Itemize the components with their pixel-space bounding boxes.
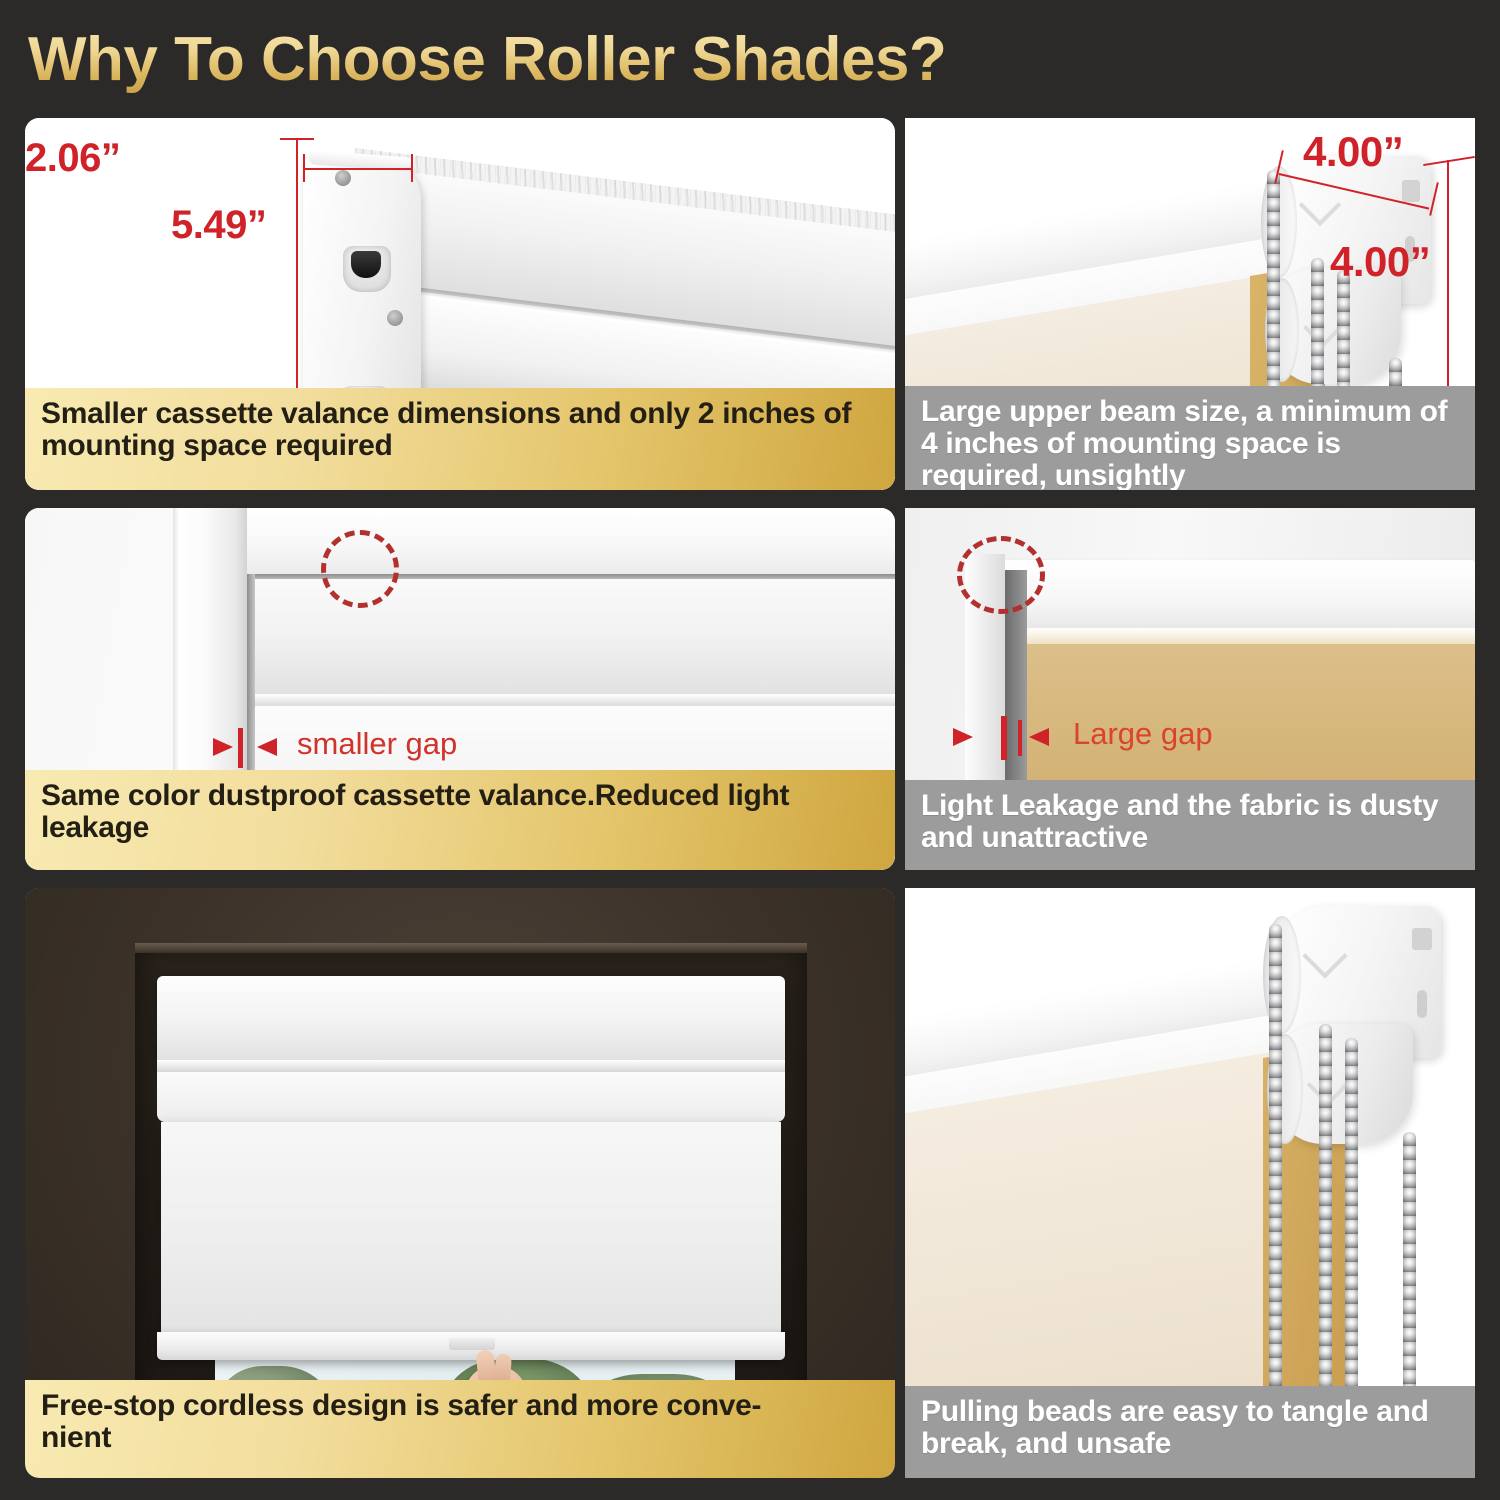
caption-top-left: Smaller cassette valance dimensions and …: [25, 388, 895, 490]
cassette-valance: [157, 976, 785, 1064]
infographic-root: Why To Choose Roller Shades?: [0, 0, 1500, 1500]
caption-top-right: Large upper beam size, a minimum of 4 in…: [905, 386, 1475, 490]
caption-bottom-right: Pulling beads are easy to tangle and bre…: [905, 1386, 1475, 1478]
height-dimension-line: [1447, 160, 1449, 392]
caption-bottom-left: Free-stop cordless design is safer and m…: [25, 1380, 895, 1478]
gap-arrow-right: [257, 738, 277, 756]
panel-mid-left: smaller gap Same color dustproof cassett…: [25, 508, 895, 870]
caption-mid-left: Same color dustproof cassette valance.Re…: [25, 770, 895, 870]
panel-mid-right: Large gap Light Leakage and the fabric i…: [905, 508, 1475, 870]
gap-highlight-ring: [321, 530, 399, 608]
page-title: Why To Choose Roller Shades?: [28, 22, 1228, 98]
gap-label: Large gap: [1073, 716, 1213, 752]
height-dimension-label: 4.00”: [1330, 238, 1430, 286]
panel-bottom-left: Free-stop cordless design is safer and m…: [25, 888, 895, 1478]
panel-top-right: 4.00” 4.00” Large upper beam size, a min…: [905, 118, 1475, 490]
gap-arrow-right: [1029, 728, 1049, 746]
width-dimension-label: 2.06”: [25, 136, 120, 181]
upper-beam: [983, 560, 1475, 638]
caption-mid-right: Light Leakage and the fabric is dusty an…: [905, 780, 1475, 870]
gap-label: smaller gap: [297, 726, 457, 762]
panel-bottom-right: Pulling beads are easy to tangle and bre…: [905, 888, 1475, 1478]
panel-top-left: 5.49” 2.06” Smaller cassette valance dim…: [25, 118, 895, 490]
shade-fabric: [161, 1122, 781, 1332]
gap-highlight-ring: [957, 536, 1045, 614]
height-dimension-label: 5.49”: [171, 203, 266, 248]
width-dimension-label: 4.00”: [1303, 128, 1403, 176]
width-dimension-line: [303, 168, 413, 170]
gap-arrow-left: [953, 728, 973, 746]
gap-arrow-left: [213, 738, 233, 756]
